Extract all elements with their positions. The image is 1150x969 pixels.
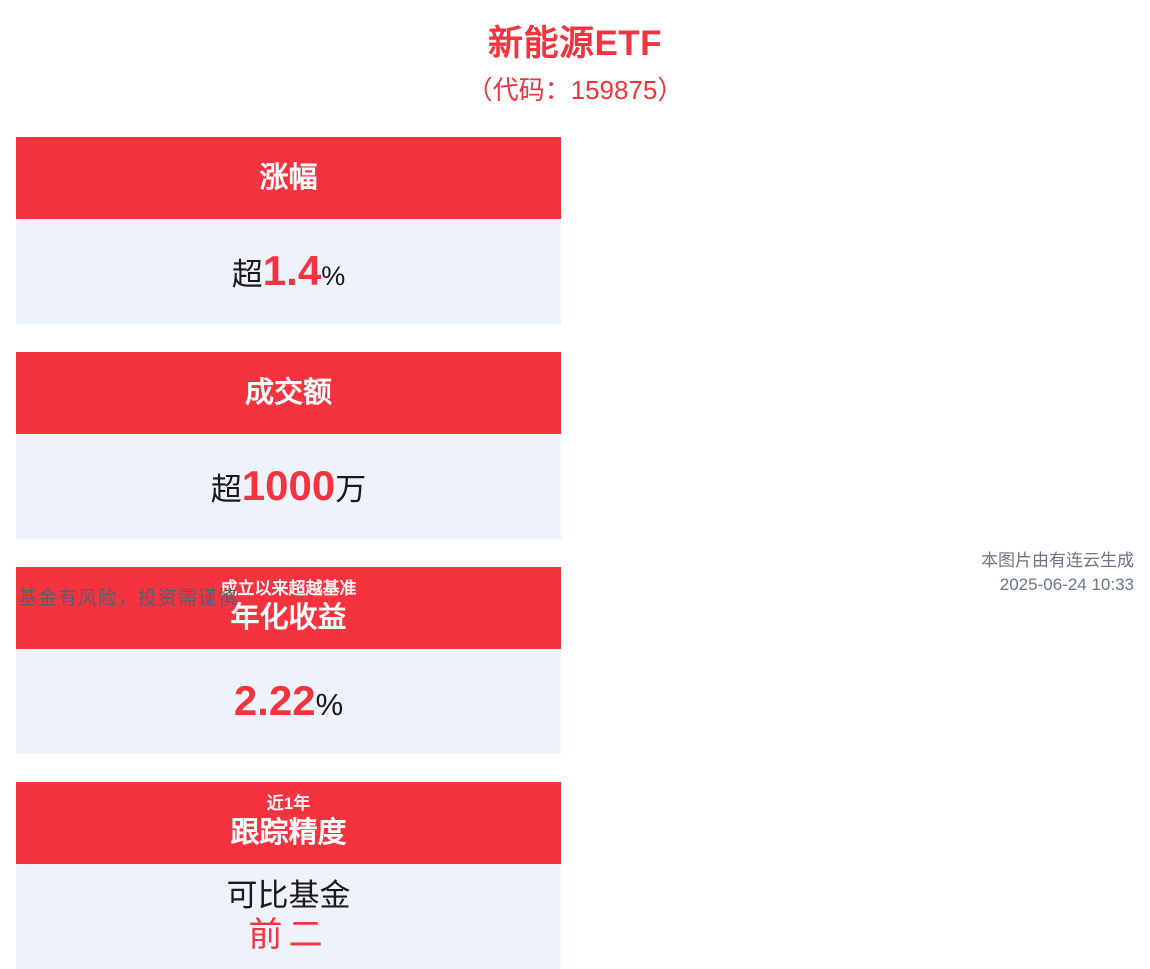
value-number-annualized-return: 2.22: [234, 677, 316, 724]
card-header-turnover: 成交额: [16, 352, 561, 434]
header: 新能源ETF （代码：159875）: [0, 0, 1150, 106]
page-title: 新能源ETF: [0, 22, 1150, 66]
value-top-tracking-accuracy: 可比基金: [227, 878, 351, 914]
value-number-turnover: 1000: [242, 462, 335, 509]
value-bottom-tracking-accuracy: 前二: [227, 916, 351, 955]
card-body-turnover: 超1000万: [16, 434, 561, 539]
value-prefix-turnover: 超: [211, 472, 242, 507]
card-header-tracking-accuracy-label: 跟踪精度: [16, 815, 561, 851]
image-timestamp: 2025-06-24 10:33: [981, 573, 1134, 598]
value-suffix-annualized-return: %: [316, 687, 344, 722]
infographic-page: 新能源ETF （代码：159875） 涨幅 超1.4% 成交额 超1000万: [0, 0, 1150, 632]
card-body-tracking-accuracy: 可比基金 前二: [16, 864, 561, 969]
card-value-tracking-accuracy: 可比基金 前二: [227, 878, 351, 955]
fund-code: （代码：159875）: [0, 74, 1150, 107]
card-header-turnover-label: 成交额: [245, 377, 332, 409]
card-value-change: 超1.4%: [232, 248, 345, 294]
risk-disclaimer: 基金有风险，投资需谨慎: [18, 583, 238, 610]
card-body-change: 超1.4%: [16, 219, 561, 324]
card-header-change-label: 涨幅: [259, 162, 317, 194]
value-prefix-change: 超: [232, 257, 263, 292]
card-header-tracking-accuracy-sup: 近1年: [16, 793, 561, 815]
card-header-tracking-accuracy: 近1年 跟踪精度: [16, 782, 561, 864]
card-body-annualized-return: 2.22%: [16, 649, 561, 754]
image-credit: 本图片由有连云生成 2025-06-24 10:33: [981, 549, 1134, 598]
image-credit-text: 本图片由有连云生成: [981, 551, 1134, 570]
metric-card-turnover: 成交额 超1000万: [16, 352, 561, 539]
footer: 基金有风险，投资需谨慎 本图片由有连云生成 2025-06-24 10:33: [0, 560, 1150, 632]
value-suffix-change: %: [321, 261, 345, 291]
card-value-turnover: 超1000万: [211, 463, 366, 509]
metric-card-tracking-accuracy: 近1年 跟踪精度 可比基金 前二: [16, 782, 561, 969]
card-value-annualized-return: 2.22%: [234, 678, 343, 724]
value-number-change: 1.4: [263, 247, 321, 294]
value-suffix-turnover: 万: [335, 472, 366, 507]
card-header-change: 涨幅: [16, 137, 561, 219]
metric-cards-grid: 涨幅 超1.4% 成交额 超1000万 成立以来超越基准 年化收: [16, 137, 1134, 969]
metric-card-change: 涨幅 超1.4%: [16, 137, 561, 324]
